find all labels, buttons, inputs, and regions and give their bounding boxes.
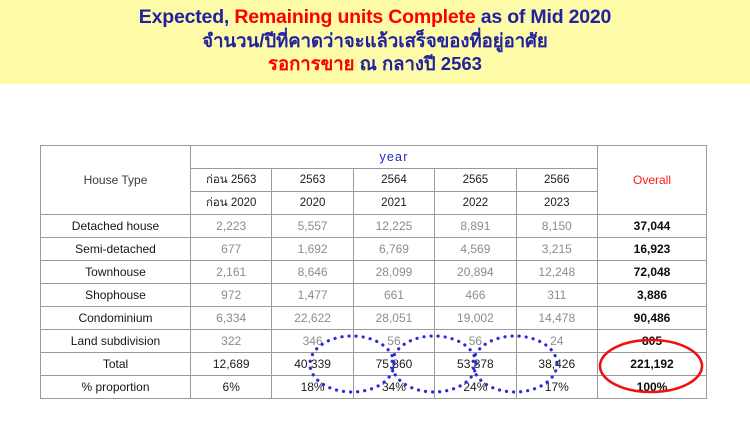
cell-land-subdivision-overall: 805 xyxy=(598,330,707,353)
title-remaining-text: Remaining units Complete xyxy=(234,6,475,28)
table-total-row: Total 12,689 40,339 75,860 53,878 38,426… xyxy=(41,353,707,376)
cell-townhouse-2022: 20,894 xyxy=(435,261,516,284)
cell-detached-house-2023: 8,150 xyxy=(516,215,597,238)
cell-shophouse-2022: 466 xyxy=(435,284,516,307)
title-banner: Expected, Remaining units Complete as of… xyxy=(0,0,750,84)
cell-townhouse-2023: 12,248 xyxy=(516,261,597,284)
header-thai-year-2563: 2563 xyxy=(272,169,353,192)
title-line-thai-2: รอการขาย ณ กลางปี 2563 xyxy=(0,54,750,75)
cell-semi-detached-overall: 16,923 xyxy=(598,238,707,261)
cell-semi-detached-2020: 1,692 xyxy=(272,238,353,261)
row-label-detached-house: Detached house xyxy=(41,215,191,238)
header-thai-year-2565: 2565 xyxy=(435,169,516,192)
table-row: Semi-detached 677 1,692 6,769 4,569 3,21… xyxy=(41,238,707,261)
cell-total-2023: 38,426 xyxy=(516,353,597,376)
row-label-total: Total xyxy=(41,353,191,376)
cell-proportion-2023: 17% xyxy=(516,376,597,399)
header-thai-year-before-2563: ก่อน 2563 xyxy=(191,169,272,192)
cell-detached-house-before-2020: 2,223 xyxy=(191,215,272,238)
table-row: Condominium 6,334 22,622 28,051 19,002 1… xyxy=(41,307,707,330)
table-row: Townhouse 2,161 8,646 28,099 20,894 12,2… xyxy=(41,261,707,284)
house-type-year-table-container: House Type year Overall ก่อน 2563 2563 2… xyxy=(40,145,706,399)
cell-townhouse-overall: 72,048 xyxy=(598,261,707,284)
header-house-type: House Type xyxy=(41,146,191,215)
title-asof-text: as of Mid 2020 xyxy=(475,6,611,28)
cell-semi-detached-2023: 3,215 xyxy=(516,238,597,261)
cell-land-subdivision-2023: 24 xyxy=(516,330,597,353)
cell-total-2020: 40,339 xyxy=(272,353,353,376)
row-label-semi-detached: Semi-detached xyxy=(41,238,191,261)
row-label-condominium: Condominium xyxy=(41,307,191,330)
row-label-townhouse: Townhouse xyxy=(41,261,191,284)
header-year-group: year xyxy=(191,146,598,169)
cell-land-subdivision-2022: 56 xyxy=(435,330,516,353)
cell-semi-detached-2021: 6,769 xyxy=(353,238,434,261)
cell-shophouse-overall: 3,886 xyxy=(598,284,707,307)
cell-semi-detached-before-2020: 677 xyxy=(191,238,272,261)
title-line-english: Expected, Remaining units Complete as of… xyxy=(0,7,750,29)
cell-detached-house-overall: 37,044 xyxy=(598,215,707,238)
cell-land-subdivision-before-2020: 322 xyxy=(191,330,272,353)
cell-proportion-2020: 18% xyxy=(272,376,353,399)
cell-shophouse-2023: 311 xyxy=(516,284,597,307)
cell-land-subdivision-2021: 56 xyxy=(353,330,434,353)
title-thai-midyear-text: ณ กลางปี 2563 xyxy=(355,53,482,74)
cell-shophouse-before-2020: 972 xyxy=(191,284,272,307)
cell-shophouse-2020: 1,477 xyxy=(272,284,353,307)
table-row: Land subdivision 322 346 56 56 24 805 xyxy=(41,330,707,353)
cell-proportion-2021: 34% xyxy=(353,376,434,399)
cell-detached-house-2020: 5,557 xyxy=(272,215,353,238)
row-label-shophouse: Shophouse xyxy=(41,284,191,307)
table-row: Detached house 2,223 5,557 12,225 8,891 … xyxy=(41,215,707,238)
cell-land-subdivision-2020: 346 xyxy=(272,330,353,353)
header-greg-year-before-2020: ก่อน 2020 xyxy=(191,192,272,215)
header-greg-year-2021: 2021 xyxy=(353,192,434,215)
table-header-row-year-group: House Type year Overall xyxy=(41,146,707,169)
cell-shophouse-2021: 661 xyxy=(353,284,434,307)
title-thai-waiting-sale-text: รอการขาย xyxy=(268,53,354,74)
cell-condominium-2020: 22,622 xyxy=(272,307,353,330)
header-thai-year-2566: 2566 xyxy=(516,169,597,192)
cell-total-2022: 53,878 xyxy=(435,353,516,376)
cell-detached-house-2021: 12,225 xyxy=(353,215,434,238)
title-line-thai-1: จำนวน/ปีที่คาดว่าจะแล้วเสร็จของที่อยู่อา… xyxy=(0,31,750,52)
cell-townhouse-2021: 28,099 xyxy=(353,261,434,284)
cell-total-2021: 75,860 xyxy=(353,353,434,376)
header-greg-year-2022: 2022 xyxy=(435,192,516,215)
cell-semi-detached-2022: 4,569 xyxy=(435,238,516,261)
cell-total-before-2020: 12,689 xyxy=(191,353,272,376)
title-expected-text: Expected, xyxy=(139,6,235,28)
header-overall: Overall xyxy=(598,146,707,215)
cell-proportion-overall: 100% xyxy=(598,376,707,399)
cell-condominium-overall: 90,486 xyxy=(598,307,707,330)
table-proportion-row: % proportion 6% 18% 34% 24% 17% 100% xyxy=(41,376,707,399)
header-greg-year-2023: 2023 xyxy=(516,192,597,215)
house-type-year-table: House Type year Overall ก่อน 2563 2563 2… xyxy=(40,145,707,399)
cell-detached-house-2022: 8,891 xyxy=(435,215,516,238)
row-label-proportion: % proportion xyxy=(41,376,191,399)
cell-proportion-2022: 24% xyxy=(435,376,516,399)
cell-townhouse-before-2020: 2,161 xyxy=(191,261,272,284)
header-greg-year-2020: 2020 xyxy=(272,192,353,215)
cell-proportion-before-2020: 6% xyxy=(191,376,272,399)
cell-condominium-before-2020: 6,334 xyxy=(191,307,272,330)
table-row: Shophouse 972 1,477 661 466 311 3,886 xyxy=(41,284,707,307)
cell-condominium-2021: 28,051 xyxy=(353,307,434,330)
cell-townhouse-2020: 8,646 xyxy=(272,261,353,284)
cell-condominium-2023: 14,478 xyxy=(516,307,597,330)
header-thai-year-2564: 2564 xyxy=(353,169,434,192)
cell-condominium-2022: 19,002 xyxy=(435,307,516,330)
row-label-land-subdivision: Land subdivision xyxy=(41,330,191,353)
cell-total-overall: 221,192 xyxy=(598,353,707,376)
